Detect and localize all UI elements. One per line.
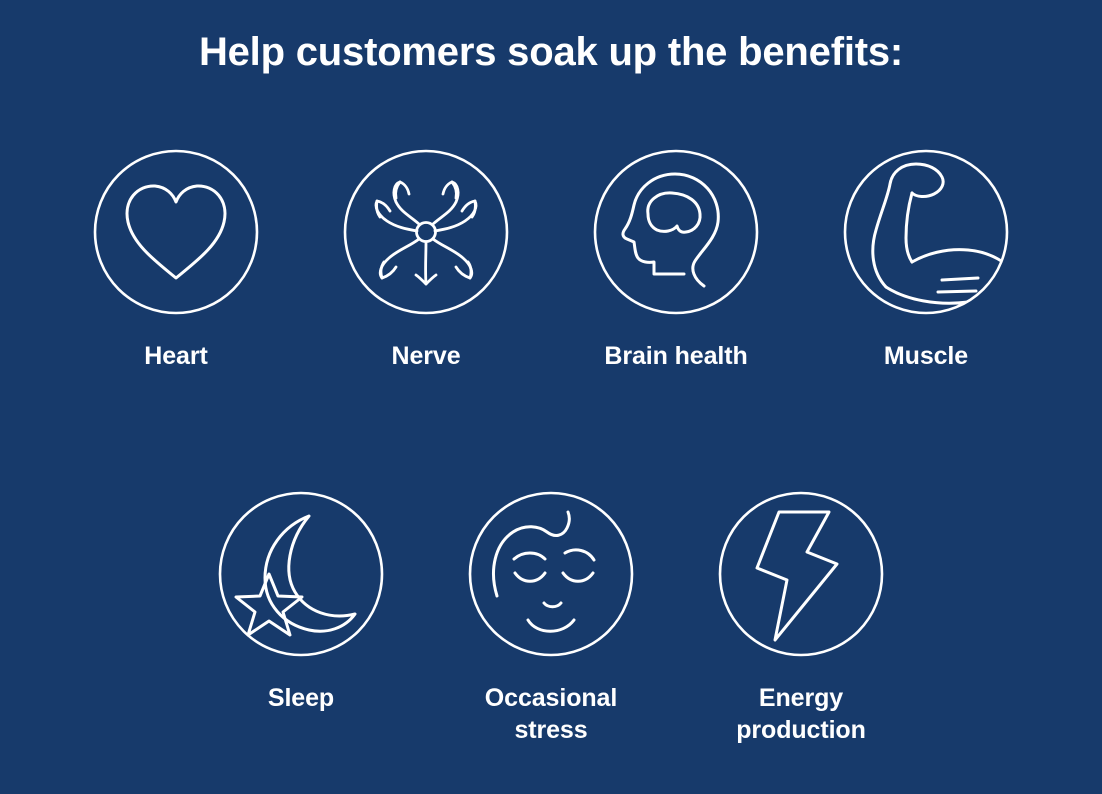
calm-face-icon bbox=[451, 474, 651, 674]
page-title: Help customers soak up the benefits: bbox=[0, 28, 1102, 76]
head-brain-icon bbox=[576, 132, 776, 332]
benefit-item-heart[interactable]: Heart bbox=[51, 132, 301, 372]
benefit-label: Muscle bbox=[884, 340, 968, 372]
benefit-label: Occasional stress bbox=[485, 682, 617, 746]
neuron-icon bbox=[326, 132, 526, 332]
benefits-row-1: Heart bbox=[0, 132, 1102, 372]
benefit-label: Heart bbox=[144, 340, 207, 372]
benefit-label: Nerve bbox=[392, 340, 461, 372]
benefit-item-muscle[interactable]: Muscle bbox=[801, 132, 1051, 372]
heart-icon bbox=[76, 132, 276, 332]
benefit-label: Sleep bbox=[268, 682, 334, 714]
flexed-arm-icon bbox=[826, 132, 1026, 332]
benefit-label: Energy production bbox=[736, 682, 866, 746]
benefit-item-energy-production[interactable]: Energy production bbox=[676, 474, 926, 746]
benefits-infographic: Help customers soak up the benefits: Hea… bbox=[0, 0, 1102, 794]
moon-star-icon bbox=[201, 474, 401, 674]
benefit-item-occasional-stress[interactable]: Occasional stress bbox=[426, 474, 676, 746]
benefit-label: Brain health bbox=[604, 340, 747, 372]
benefit-item-nerve[interactable]: Nerve bbox=[301, 132, 551, 372]
benefits-row-2: Sleep bbox=[0, 474, 1102, 746]
benefits-grid: Heart bbox=[0, 132, 1102, 746]
benefit-item-sleep[interactable]: Sleep bbox=[176, 474, 426, 746]
benefit-item-brain-health[interactable]: Brain health bbox=[551, 132, 801, 372]
lightning-bolt-icon bbox=[701, 474, 901, 674]
